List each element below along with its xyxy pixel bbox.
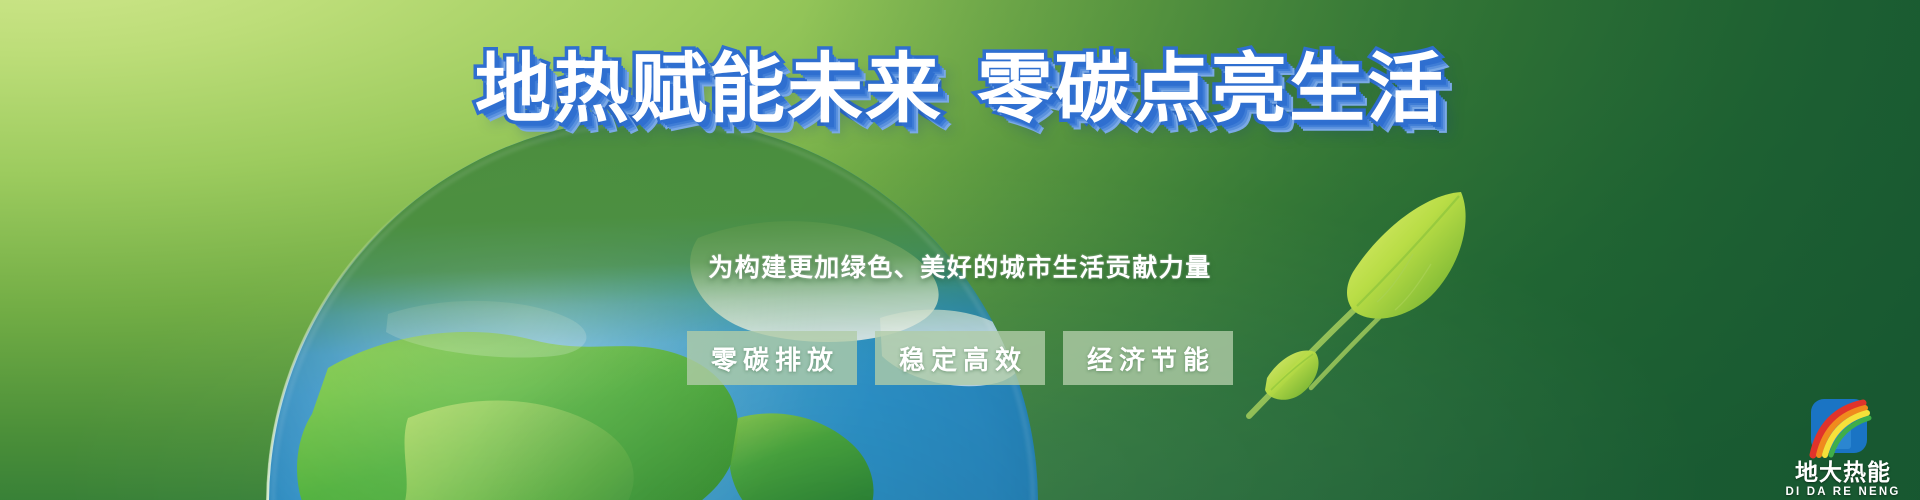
feature-tag-list: 零碳排放 稳定高效 经济节能 (0, 331, 1920, 385)
company-logo[interactable]: 地大热能 DI DA RE NENG (1774, 397, 1912, 498)
banner-title-part1: 地热赋能未来 (475, 47, 943, 132)
logo-chinese-name: 地大热能 (1774, 461, 1912, 485)
rainbow-arc-in-rounded-square-icon (1807, 397, 1879, 459)
feature-tag-stable-efficient[interactable]: 稳定高效 (875, 331, 1045, 385)
banner-title: 地热赋能未来零碳点亮生活 (0, 52, 1920, 128)
logo-pinyin-name: DI DA RE NENG (1774, 486, 1912, 498)
hero-banner: 地热赋能未来零碳点亮生活 为构建更加绿色、美好的城市生活贡献力量 零碳排放 稳定… (0, 0, 1920, 500)
feature-tag-zero-carbon[interactable]: 零碳排放 (687, 331, 857, 385)
banner-title-part2: 零碳点亮生活 (977, 47, 1445, 132)
feature-tag-economical[interactable]: 经济节能 (1063, 331, 1233, 385)
banner-subtitle: 为构建更加绿色、美好的城市生活贡献力量 (0, 248, 1920, 284)
